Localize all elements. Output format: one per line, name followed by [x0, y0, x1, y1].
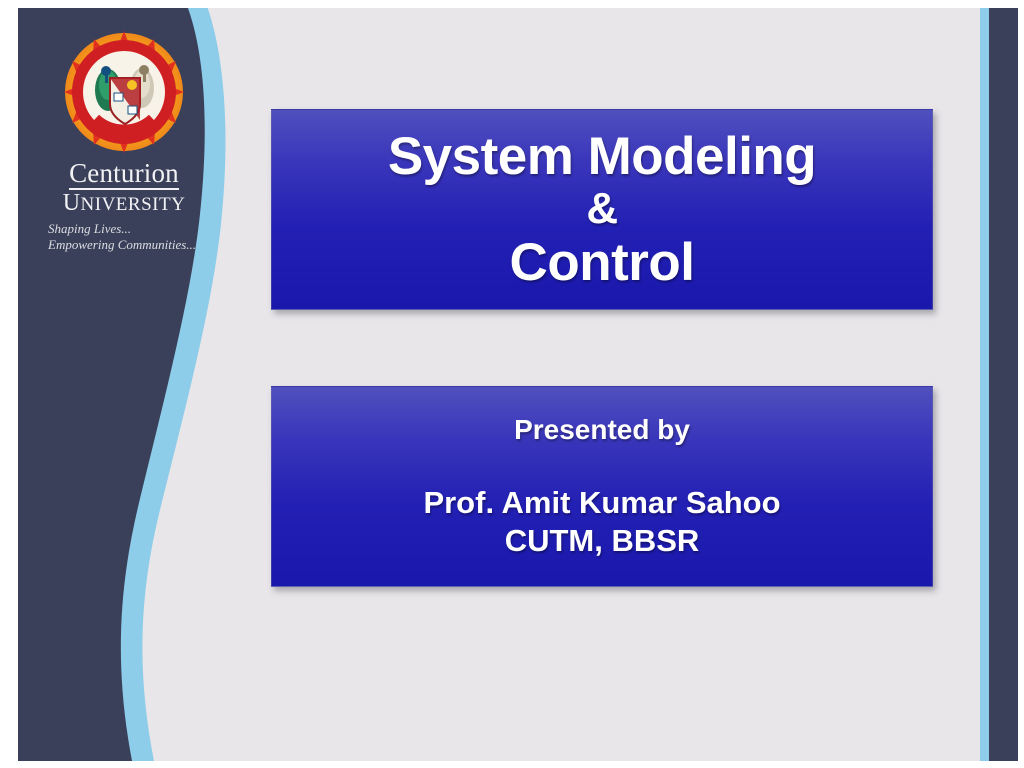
slide-subtitle-block: Presented by Prof. Amit Kumar Sahoo CUTM… [271, 386, 933, 587]
right-navy-band [989, 8, 1018, 761]
slide-title-block: System Modeling & Control [271, 109, 933, 310]
university-logo-lockup: Centurion UNIVERSITY Shaping Lives... Em… [40, 30, 208, 254]
brand-tagline: Shaping Lives... Empowering Communities.… [40, 221, 208, 254]
presenter-affiliation: CUTM, BBSR [505, 522, 700, 560]
slide-title-line-1: System Modeling [388, 128, 816, 185]
slide-title-line-2: & [586, 185, 617, 233]
presented-by-label: Presented by [514, 414, 690, 446]
slide-title-line-3: Control [510, 234, 695, 291]
right-lightblue-stripe [980, 8, 989, 761]
crest-shield [110, 78, 140, 124]
brand-tagline-line1: Shaping Lives... [48, 221, 208, 237]
slide-canvas: Centurion UNIVERSITY Shaping Lives... Em… [18, 8, 1018, 761]
university-crest-icon [62, 30, 186, 154]
brand-name-primary: Centurion [40, 160, 208, 190]
presentation-slide: Centurion UNIVERSITY Shaping Lives... Em… [0, 0, 1024, 768]
brand-tagline-line2: Empowering Communities... [48, 237, 208, 253]
brand-name-secondary: UNIVERSITY [40, 191, 208, 216]
presenter-name: Prof. Amit Kumar Sahoo [423, 484, 780, 522]
